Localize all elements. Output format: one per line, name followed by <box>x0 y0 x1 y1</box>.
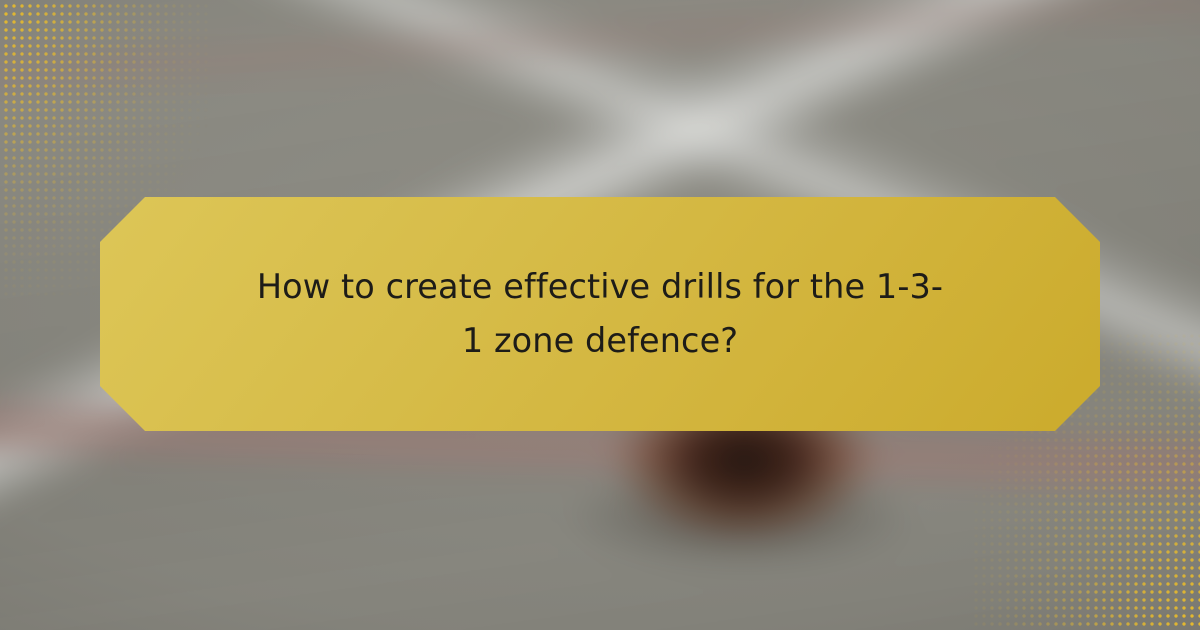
question-card: How to create effective drills for the 1… <box>100 197 1100 431</box>
question-title: How to create effective drills for the 1… <box>250 260 950 369</box>
social-card-canvas: How to create effective drills for the 1… <box>0 0 1200 630</box>
